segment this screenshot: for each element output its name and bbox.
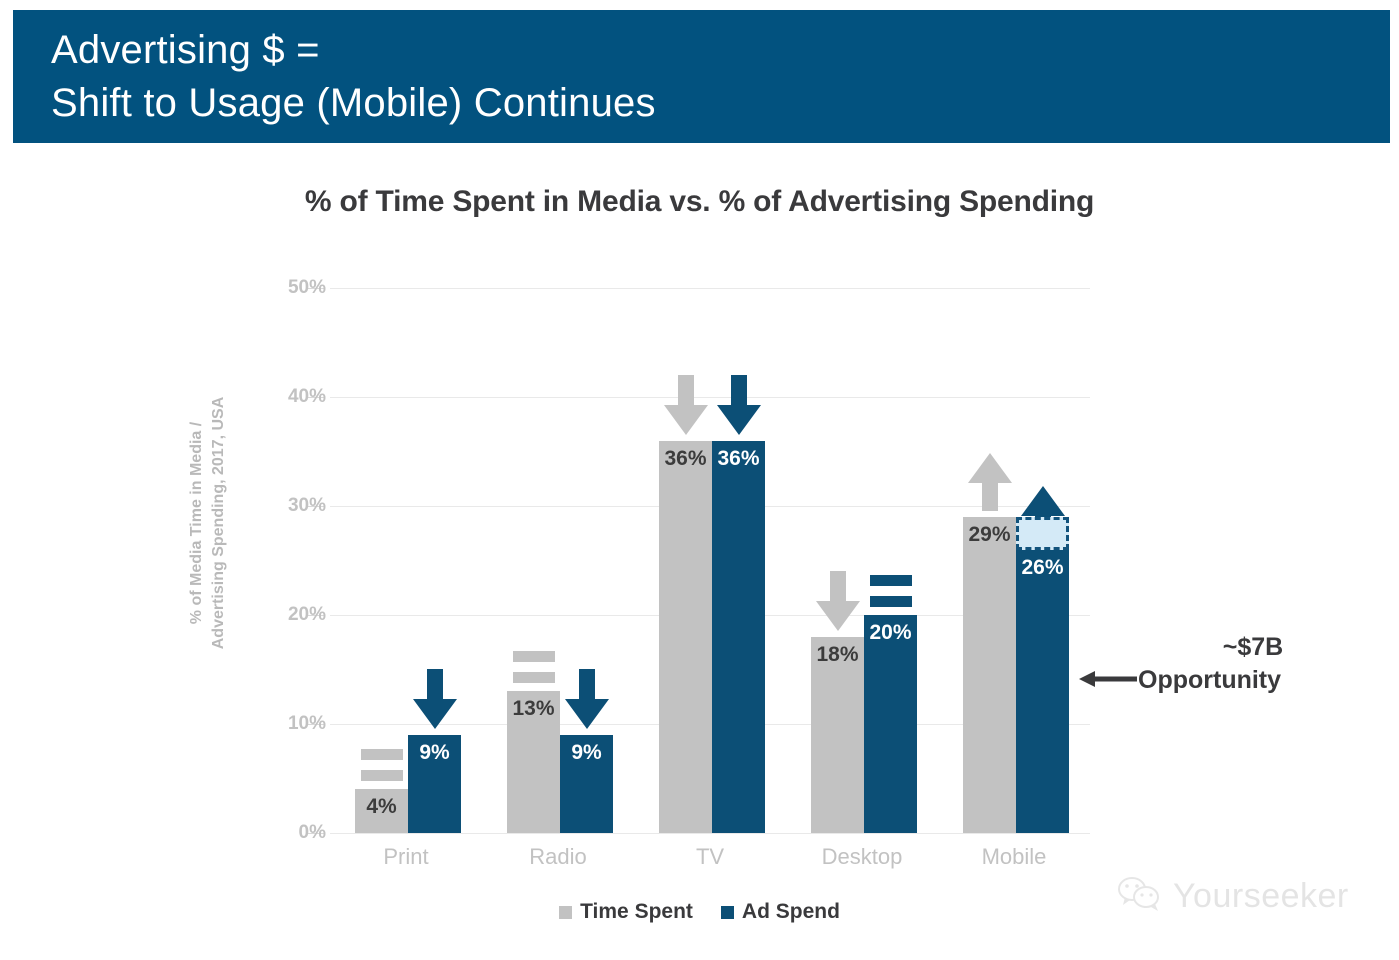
x-axis-category-label-print: Print <box>330 844 482 870</box>
equals-marker-icon <box>359 745 405 785</box>
legend-item-ad-spend: Ad Spend <box>721 900 840 924</box>
opportunity-annotation: ~$7B Opportunity <box>1138 631 1368 697</box>
bar-value-label: 9% <box>560 741 613 765</box>
header-title-line-2: Shift to Usage (Mobile) Continues <box>51 77 1390 130</box>
watermark: Yourseeker <box>1117 876 1349 917</box>
opportunity-amount: ~$7B <box>1138 631 1368 664</box>
y-axis-tick-label: 20% <box>256 604 326 626</box>
y-axis-title-line-2: Advertising Spending, 2017, USA <box>208 343 230 703</box>
watermark-text: Yourseeker <box>1173 877 1349 916</box>
bar-radio-ad-spend: 9% <box>560 735 613 833</box>
bar-value-label: 36% <box>712 447 765 471</box>
bar-value-label: 20% <box>864 621 917 645</box>
bar-value-label: 29% <box>963 523 1016 547</box>
down-marker-icon <box>716 375 762 437</box>
legend-swatch-time-spent-icon <box>559 906 572 919</box>
y-axis-title: % of Media Time in Media / Advertising S… <box>186 343 232 703</box>
plot-area: 0%10%20%30%40%50%4%9%Print13%9%Radio36%3… <box>330 288 1090 833</box>
y-axis-title-line-1: % of Media Time in Media / <box>186 343 208 703</box>
bar-desktop-time-spent: 18% <box>811 637 864 833</box>
legend-item-time-spent: Time Spent <box>559 900 693 924</box>
down-marker-icon <box>815 571 861 633</box>
equals-marker-icon <box>868 571 914 611</box>
x-axis-category-label-tv: TV <box>634 844 786 870</box>
gridline <box>330 833 1090 834</box>
bar-value-label: 36% <box>659 447 712 471</box>
chart-title: % of Time Spent in Media vs. % of Advert… <box>0 185 1399 219</box>
opportunity-arrow-icon <box>1079 670 1137 688</box>
bar-tv-ad-spend: 36% <box>712 441 765 833</box>
up-marker-icon <box>967 451 1013 513</box>
header-banner: Advertising $ = Shift to Usage (Mobile) … <box>13 10 1390 143</box>
equals-marker-icon <box>511 647 557 687</box>
y-axis-tick-label: 30% <box>256 495 326 517</box>
bar-value-label: 13% <box>507 697 560 721</box>
bar-desktop-ad-spend: 20% <box>864 615 917 833</box>
y-axis-tick-label: 10% <box>256 713 326 735</box>
x-axis-category-label-mobile: Mobile <box>938 844 1090 870</box>
y-axis-tick-label: 0% <box>256 822 326 844</box>
bar-tv-time-spent: 36% <box>659 441 712 833</box>
bar-value-label: 9% <box>408 741 461 765</box>
bar-value-label: 4% <box>355 795 408 819</box>
x-axis-category-label-desktop: Desktop <box>786 844 938 870</box>
bar-mobile-ad-spend: 26% <box>1016 550 1069 833</box>
bar-value-label: 26% <box>1016 556 1069 580</box>
bar-print-ad-spend: 9% <box>408 735 461 833</box>
legend-label-ad-spend: Ad Spend <box>742 900 840 924</box>
wechat-icon <box>1117 876 1161 917</box>
legend-label-time-spent: Time Spent <box>580 900 693 924</box>
down-marker-icon <box>663 375 709 437</box>
down-marker-icon <box>412 669 458 731</box>
x-axis-category-label-radio: Radio <box>482 844 634 870</box>
bar-print-time-spent: 4% <box>355 789 408 833</box>
chart-panel: % of Time Spent in Media vs. % of Advert… <box>0 143 1399 960</box>
down-marker-icon <box>564 669 610 731</box>
gridline <box>330 397 1090 398</box>
opportunity-label: Opportunity <box>1138 664 1368 697</box>
header-title-line-1: Advertising $ = <box>51 24 1390 77</box>
bar-radio-time-spent: 13% <box>507 691 560 833</box>
legend-swatch-ad-spend-icon <box>721 906 734 919</box>
opportunity-box <box>1016 517 1069 550</box>
y-axis-tick-label: 50% <box>256 277 326 299</box>
bar-value-label: 18% <box>811 643 864 667</box>
bar-mobile-time-spent: 29% <box>963 517 1016 833</box>
y-axis-tick-label: 40% <box>256 386 326 408</box>
gridline <box>330 288 1090 289</box>
